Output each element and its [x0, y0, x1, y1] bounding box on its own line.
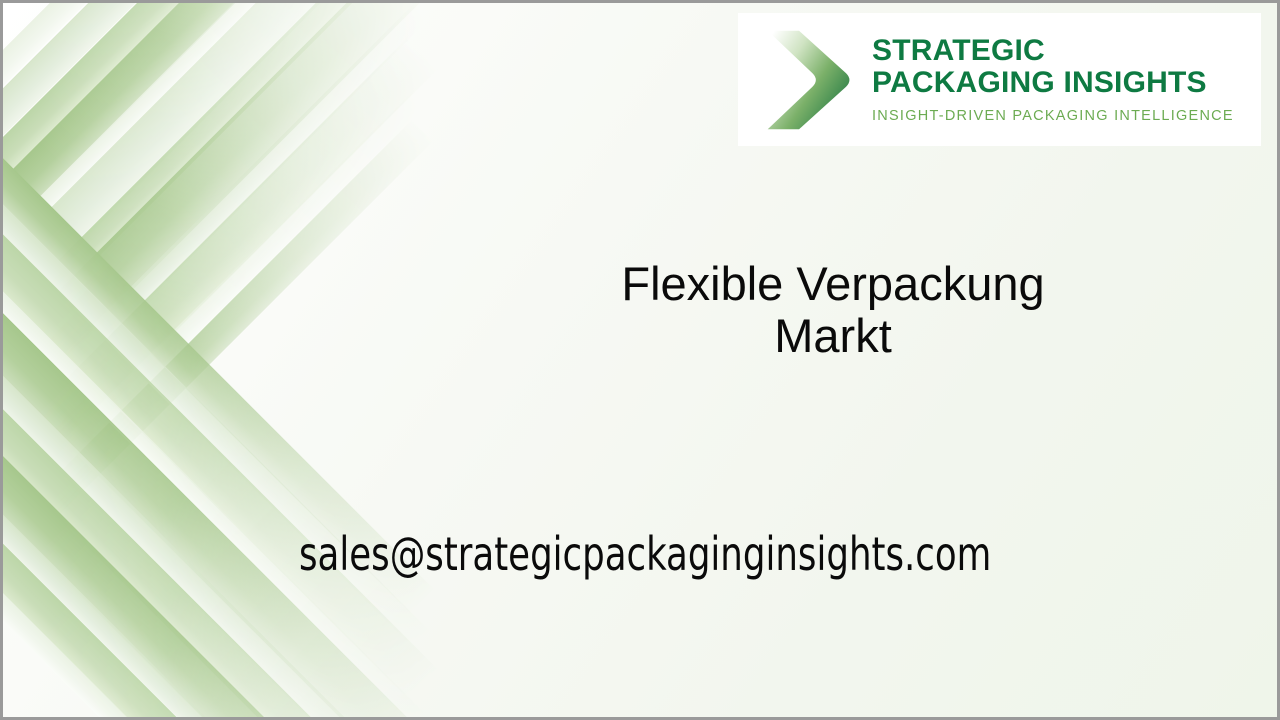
- chevron-band: [0, 81, 483, 720]
- chevron-band: [0, 0, 483, 469]
- title-slide: STRATEGIC PACKAGING INSIGHTS INSIGHT-DRI…: [0, 0, 1280, 720]
- chevron-band: [0, 0, 483, 438]
- brand-tagline: INSIGHT-DRIVEN PACKAGING INTELLIGENCE: [872, 108, 1234, 124]
- chevron-band: [0, 31, 483, 720]
- brand-logo: STRATEGIC PACKAGING INSIGHTS INSIGHT-DRI…: [738, 13, 1261, 146]
- chevron-band: [0, 306, 483, 720]
- chevron-arrow-mark: [752, 24, 864, 136]
- chevron-band: [0, 168, 483, 720]
- contact-email[interactable]: sales@strategicpackaginginsights.com: [299, 527, 991, 581]
- chevron-band: [0, 33, 483, 720]
- chevron-band: [0, 63, 483, 720]
- chevron-band: [0, 0, 483, 294]
- brand-wordmark: STRATEGIC PACKAGING INSIGHTS INSIGHT-DRI…: [872, 35, 1234, 124]
- brand-line-1: STRATEGIC: [872, 35, 1234, 67]
- chevron-band: [0, 114, 483, 720]
- brand-line-2: PACKAGING INSIGHTS: [872, 67, 1234, 99]
- page-title: Flexible Verpackung Markt: [383, 258, 1280, 362]
